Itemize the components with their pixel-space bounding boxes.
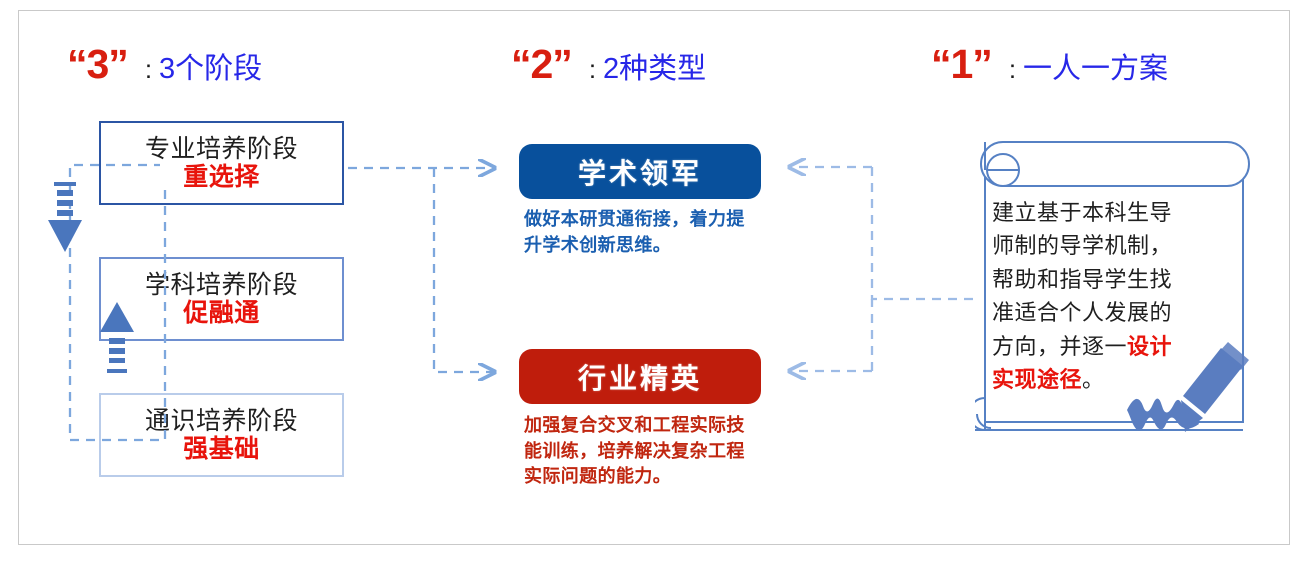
heading-subtitle: 2种类型 [603, 55, 706, 84]
heading-one-plan: “1” : 一人一方案 [931, 44, 1168, 85]
stage-keyword: 强基础 [183, 435, 260, 463]
type-description-academic: 做好本研贯通衔接，着力提升学术创新思维。 [524, 207, 754, 258]
stage-keyword: 促融通 [183, 299, 260, 327]
type-description-industry: 加强复合交叉和工程实际技能训练，培养解决复杂工程实际问题的能力。 [524, 413, 754, 490]
heading-three-stages: “3” : 3个阶段 [67, 44, 262, 85]
type-pill-academic-leader[interactable]: 学术领军 [519, 144, 761, 199]
heading-number: “3” [67, 44, 128, 85]
heading-two-types: “2” : 2种类型 [511, 44, 706, 85]
heading-colon: : [1009, 54, 1016, 85]
heading-colon: : [145, 54, 152, 85]
scroll-text-after: 。 [1082, 367, 1105, 392]
type-pill-industry-elite[interactable]: 行业精英 [519, 349, 761, 404]
type-pill-label: 行业精英 [578, 357, 702, 397]
heading-colon: : [589, 54, 596, 85]
stage-title: 专业培养阶段 [145, 135, 298, 163]
heading-subtitle: 一人一方案 [1023, 55, 1168, 84]
stage-box-discipline[interactable]: 学科培养阶段 促融通 [99, 257, 344, 341]
stage-keyword: 重选择 [183, 163, 260, 191]
heading-number: “2” [511, 44, 572, 85]
stage-box-general[interactable]: 通识培养阶段 强基础 [99, 393, 344, 477]
scroll-body-text: 建立基于本科生导师制的导学机制，帮助和指导学生找准适合个人发展的方向，并逐一设计… [992, 196, 1192, 397]
type-pill-label: 学术领军 [578, 152, 702, 192]
stage-title: 学科培养阶段 [145, 271, 298, 299]
stage-title: 通识培养阶段 [145, 407, 298, 435]
heading-subtitle: 3个阶段 [159, 55, 262, 84]
stage-box-professional[interactable]: 专业培养阶段 重选择 [99, 121, 344, 205]
heading-number: “1” [931, 44, 992, 85]
